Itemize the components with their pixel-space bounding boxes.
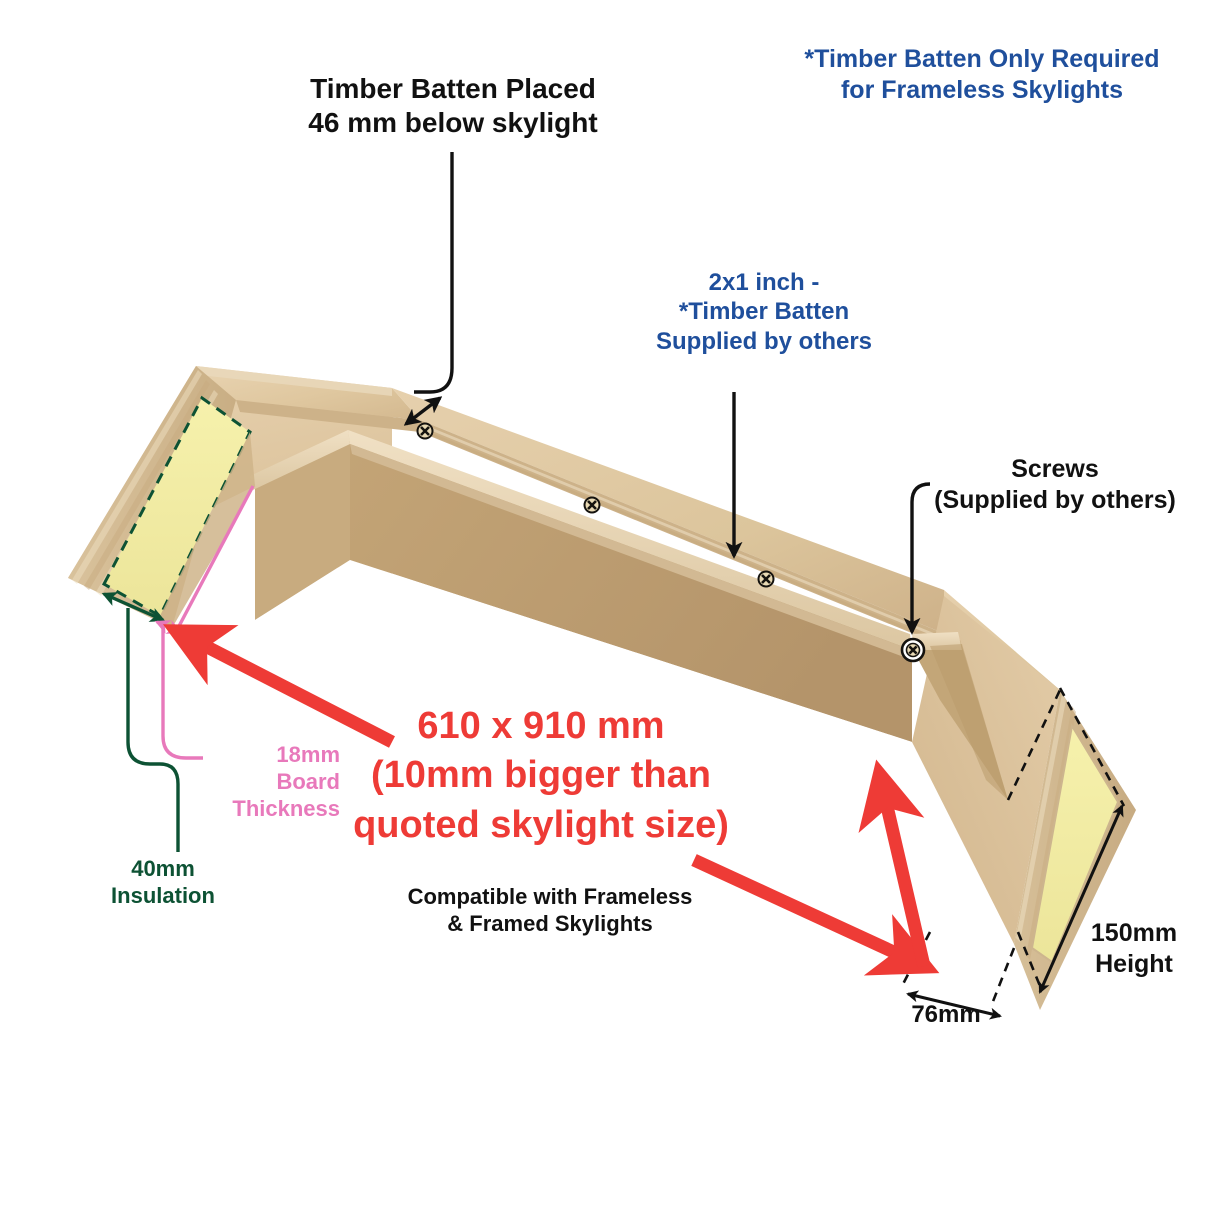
ext-line-depth-b bbox=[992, 948, 1014, 1004]
screw-head-icon bbox=[585, 498, 600, 513]
dimension-insulation bbox=[104, 594, 178, 852]
left-end-face bbox=[68, 366, 255, 628]
diagram-canvas: Timber Batten Placed 46 mm below skyligh… bbox=[0, 0, 1214, 1214]
kerb-illustration bbox=[0, 0, 1214, 1214]
screw-head-icon bbox=[418, 424, 433, 439]
red-arrow-down-right bbox=[694, 860, 924, 966]
screw-head-icon-highlighted bbox=[902, 639, 924, 661]
label-screws: Screws (Supplied by others) bbox=[900, 454, 1210, 515]
label-height-150mm: 150mm Height bbox=[1074, 918, 1194, 979]
label-main-size: 610 x 910 mm (10mm bigger than quoted sk… bbox=[326, 702, 756, 850]
label-board-thickness: 18mm Board Thickness bbox=[212, 742, 340, 822]
label-insulation: 40mm Insulation bbox=[88, 856, 238, 910]
label-depth-76mm: 76mm bbox=[898, 1000, 994, 1029]
label-compatible: Compatible with Frameless & Framed Skyli… bbox=[378, 884, 722, 938]
label-frameless-note: *Timber Batten Only Required for Framele… bbox=[760, 44, 1204, 105]
label-batten-spec: 2x1 inch - *Timber Batten Supplied by ot… bbox=[618, 268, 910, 356]
leader-batten-placement bbox=[414, 152, 452, 392]
screw-head-icon bbox=[759, 572, 774, 587]
red-arrow-up-right bbox=[880, 776, 924, 966]
label-batten-placement: Timber Batten Placed 46 mm below skyligh… bbox=[268, 72, 638, 140]
leader-insulation bbox=[128, 608, 178, 852]
